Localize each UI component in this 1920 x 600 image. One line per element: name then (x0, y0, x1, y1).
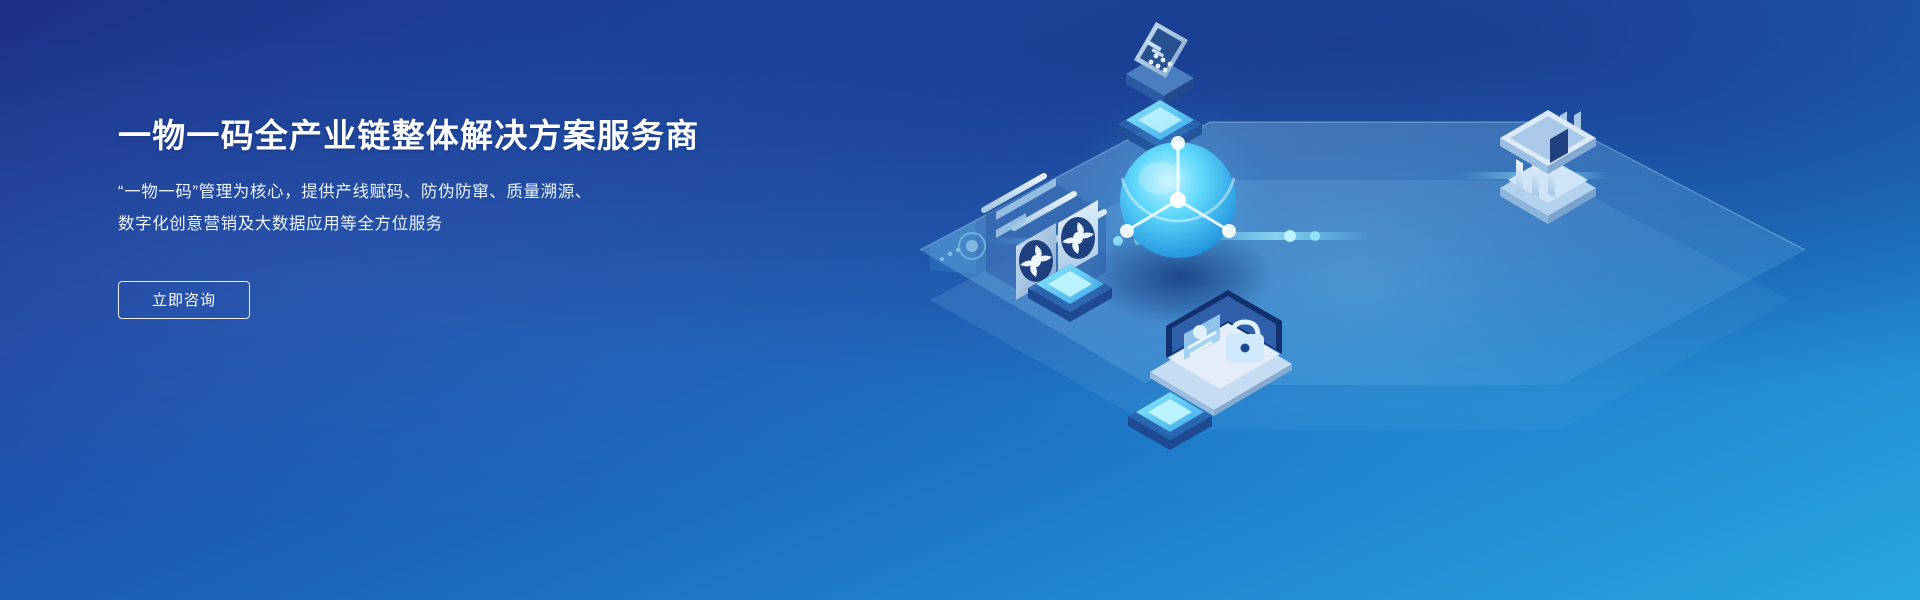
hero-banner: 一物一码全产业链整体解决方案服务商 “一物一码”管理为核心，提供产线赋码、防伪防… (0, 0, 1920, 600)
network-sphere-icon (1066, 88, 1290, 325)
hero-subtext-line-1: “一物一码”管理为核心，提供产线赋码、防伪防窜、质量溯源、 (118, 176, 838, 208)
consult-now-button[interactable]: 立即咨询 (118, 281, 250, 319)
hero-illustration (860, 0, 1920, 600)
hero-subtext-line-2: 数字化创意营销及大数据应用等全方位服务 (118, 208, 838, 240)
hero-copy: 一物一码全产业链整体解决方案服务商 “一物一码”管理为核心，提供产线赋码、防伪防… (118, 118, 838, 319)
page-title: 一物一码全产业链整体解决方案服务商 (118, 118, 838, 154)
